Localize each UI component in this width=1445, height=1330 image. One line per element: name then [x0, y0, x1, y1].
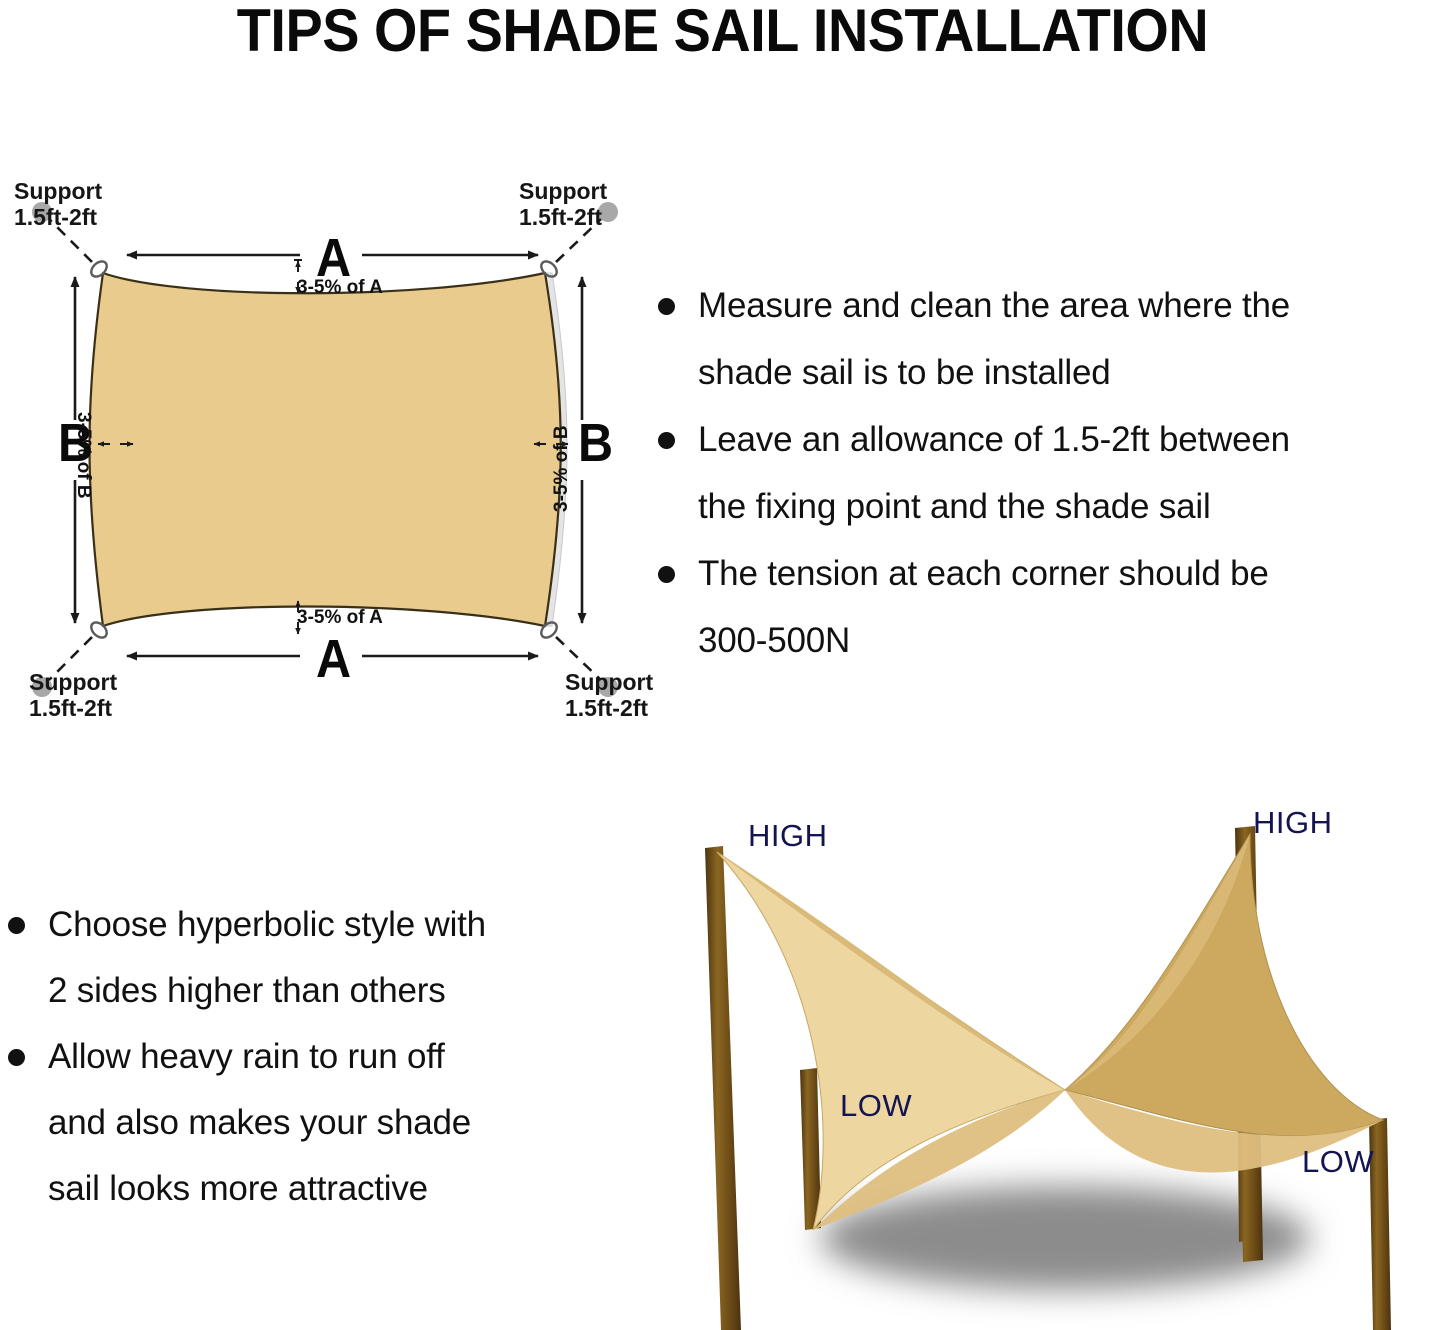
- tip-item: Measure and clean the area where the sha…: [650, 272, 1445, 406]
- label-high-left: HIGH: [748, 818, 828, 854]
- label-high-right: HIGH: [1253, 805, 1333, 841]
- tip-line: Leave an allowance of 1.5-2ft between: [698, 420, 1290, 459]
- tip-line: Measure and clean the area where the: [698, 286, 1290, 325]
- tip-item: Leave an allowance of 1.5-2ft between th…: [650, 406, 1445, 540]
- installation-tips-list: Measure and clean the area where the sha…: [650, 272, 1445, 674]
- sail-panel-right: [1065, 834, 1383, 1136]
- tip-line: Choose hyperbolic style with: [48, 905, 486, 944]
- support-label-bottom-right: Support 1.5ft-2ft: [565, 669, 653, 721]
- dimension-label-a-bottom: A: [316, 632, 351, 686]
- tip-line: The tension at each corner should be: [698, 554, 1269, 593]
- tip-line: shade sail is to be installed: [698, 353, 1111, 392]
- support-range: 1.5ft-2ft: [519, 204, 607, 230]
- support-range: 1.5ft-2ft: [565, 695, 653, 721]
- tip-line: the fixing point and the shade sail: [698, 487, 1211, 526]
- support-title: Support: [519, 178, 607, 204]
- curvature-label-bottom: 3-5% of A: [297, 607, 383, 629]
- curvature-label-top: 3-5% of A: [297, 277, 383, 299]
- support-label-bottom-left: Support 1.5ft-2ft: [29, 669, 117, 721]
- dimension-label-b-right: B: [578, 416, 613, 470]
- tip-line: and also makes your shade: [48, 1103, 471, 1142]
- hyperbolic-sail-illustration: [665, 790, 1445, 1330]
- support-label-top-left: Support 1.5ft-2ft: [14, 178, 102, 230]
- support-range: 1.5ft-2ft: [29, 695, 117, 721]
- bullet-dot: [8, 917, 25, 934]
- support-title: Support: [14, 178, 102, 204]
- tip-line: 2 sides higher than others: [48, 971, 446, 1010]
- tip-line: 300-500N: [698, 621, 850, 660]
- label-low-left: LOW: [840, 1088, 912, 1124]
- bullet-dot: [8, 1049, 25, 1066]
- bullet-dot: [658, 566, 675, 583]
- shade-sail-shape: [90, 273, 561, 626]
- tip-line: sail looks more attractive: [48, 1169, 428, 1208]
- ground-shadow: [820, 1186, 1310, 1290]
- support-range: 1.5ft-2ft: [14, 204, 102, 230]
- curvature-label-right: 3-5% of B: [551, 425, 573, 512]
- bullet-dot: [658, 298, 675, 315]
- post-high-left: [705, 846, 741, 1330]
- tip-item: Choose hyperbolic style with 2 sides hig…: [0, 892, 630, 1024]
- label-low-right: LOW: [1302, 1144, 1374, 1180]
- bullet-dot: [658, 432, 675, 449]
- tip-line: Allow heavy rain to run off: [48, 1037, 445, 1076]
- support-title: Support: [565, 669, 653, 695]
- hyperbolic-style-tips-list: Choose hyperbolic style with 2 sides hig…: [0, 892, 630, 1222]
- support-title: Support: [29, 669, 117, 695]
- support-label-top-right: Support 1.5ft-2ft: [519, 178, 607, 230]
- tip-item: Allow heavy rain to run off and also mak…: [0, 1024, 630, 1222]
- curvature-label-left: 3-5% of B: [72, 412, 94, 499]
- page-title: TIPS OF SHADE SAIL INSTALLATION: [51, 0, 1395, 64]
- tip-item: The tension at each corner should be 300…: [650, 540, 1445, 674]
